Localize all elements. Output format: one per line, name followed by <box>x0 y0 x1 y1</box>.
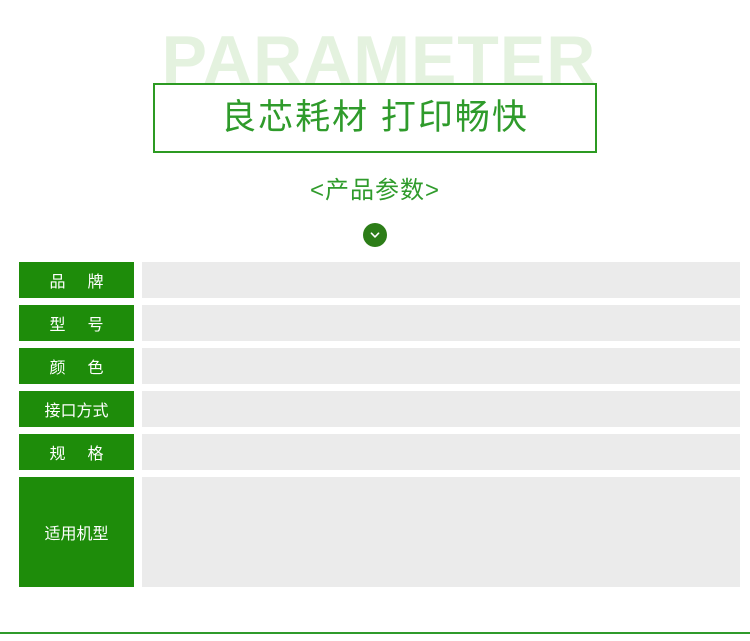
page-subtitle: <产品参数> <box>0 175 750 207</box>
title-box: 良芯耗材 打印畅快 <box>153 83 597 153</box>
param-value-color[interactable] <box>142 348 740 384</box>
param-value-interface[interactable] <box>142 391 740 427</box>
param-label-brand: 品牌 <box>19 262 134 298</box>
param-value-model[interactable] <box>142 305 740 341</box>
bottom-divider <box>0 632 750 634</box>
param-label-text: 适用机型 <box>44 520 108 544</box>
table-row: 颜色 <box>0 348 750 384</box>
param-label-text: 规格 <box>27 440 125 464</box>
table-row: 型号 <box>0 305 750 341</box>
param-label-interface: 接口方式 <box>19 391 134 427</box>
param-label-color: 颜色 <box>19 348 134 384</box>
table-row: 接口方式 <box>0 391 750 427</box>
param-value-spec[interactable] <box>142 434 740 470</box>
param-value-brand[interactable] <box>142 262 740 298</box>
param-label-spec: 规格 <box>19 434 134 470</box>
parameter-table: 品牌 型号 颜色 接口方式 规格 适用机型 <box>0 262 750 587</box>
chevron-down-button[interactable] <box>363 223 387 247</box>
param-label-model: 型号 <box>19 305 134 341</box>
table-row: 适用机型 <box>0 477 750 587</box>
param-label-text: 品牌 <box>27 268 125 292</box>
table-row: 规格 <box>0 434 750 470</box>
param-label-text: 颜色 <box>27 354 125 378</box>
table-row: 品牌 <box>0 262 750 298</box>
param-value-compatible-models[interactable] <box>142 477 740 587</box>
chevron-down-icon <box>368 228 382 242</box>
param-label-compatible-models: 适用机型 <box>19 477 134 587</box>
page-title: 良芯耗材 打印畅快 <box>221 98 529 138</box>
param-label-text: 型号 <box>27 311 125 335</box>
hero-header: PARAMETER 良芯耗材 打印畅快 <产品参数> <box>0 0 750 256</box>
param-label-text: 接口方式 <box>44 397 108 421</box>
